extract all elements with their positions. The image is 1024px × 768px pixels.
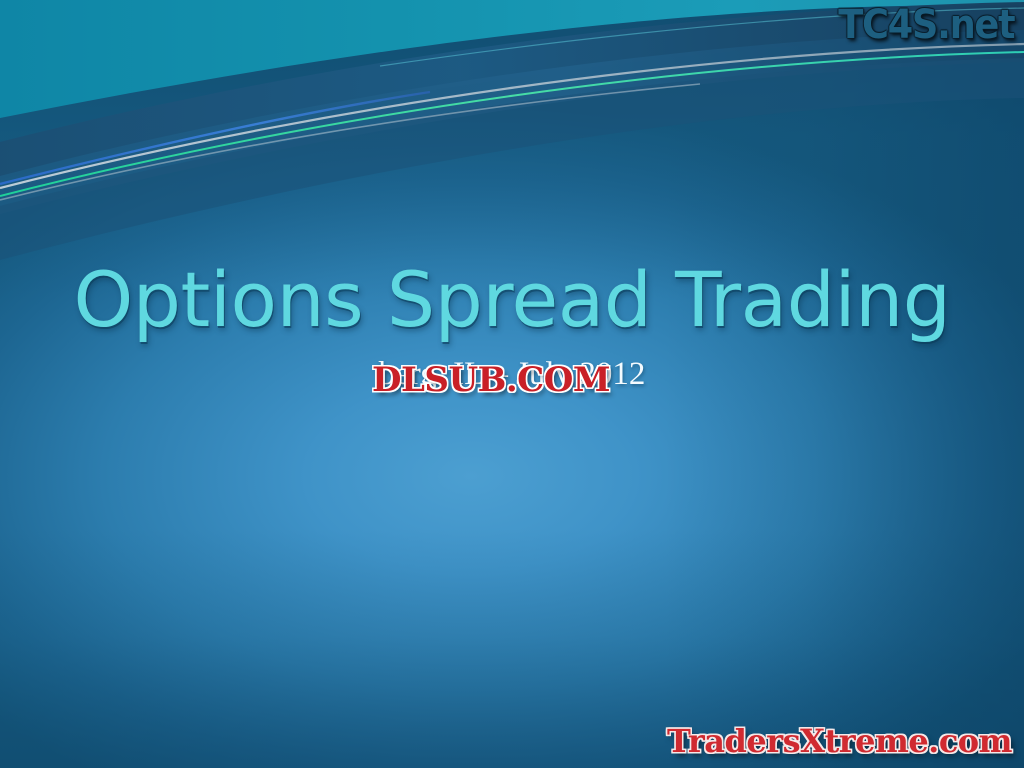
watermark-dlsub: DLSUB.COM [372, 360, 610, 400]
watermark-tradersxtreme: TradersXtreme.com [667, 722, 1012, 760]
slide-title: Options Spread Trading [0, 262, 1024, 338]
watermark-tc4s: TC4S.net [838, 2, 1014, 48]
presentation-slide: Options Spread Trading berg, IL – July 2… [0, 0, 1024, 768]
